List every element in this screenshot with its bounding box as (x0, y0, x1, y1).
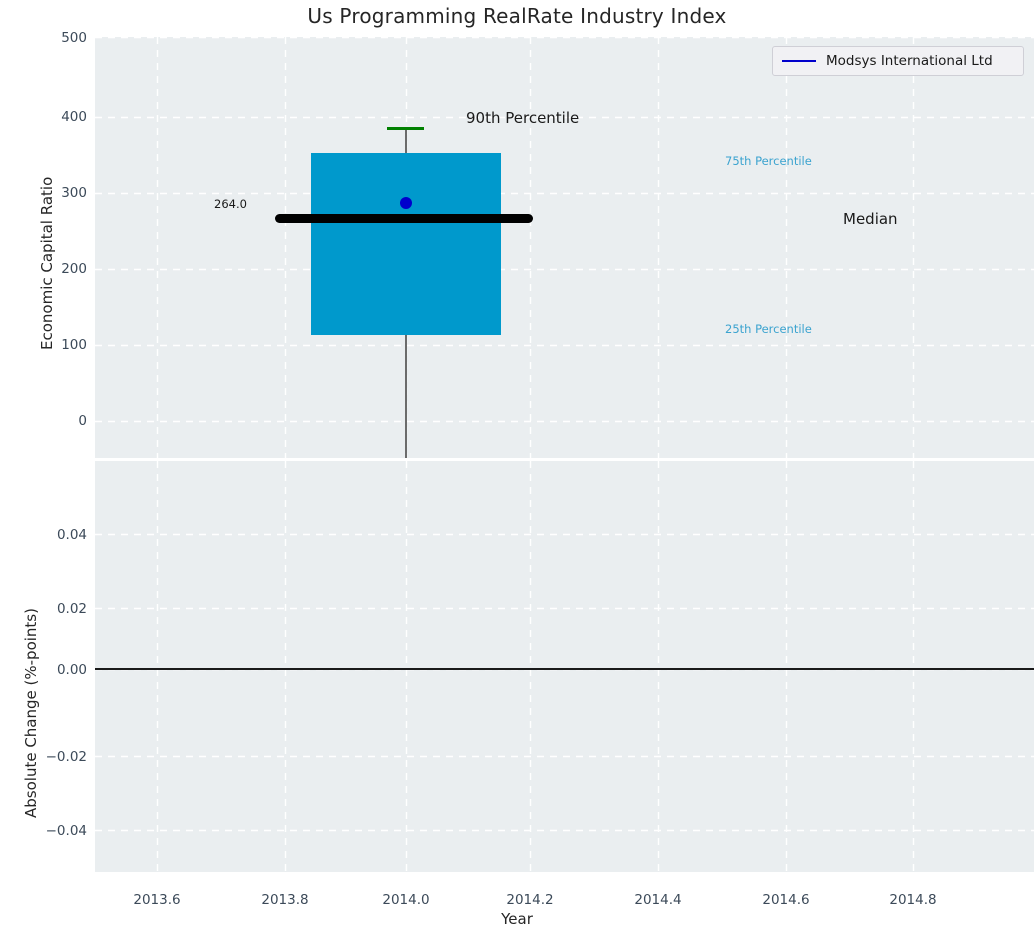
y-tick-label: 0.02 (7, 601, 87, 617)
x-axis-label: Year (0, 910, 1034, 928)
y-tick-label: −0.02 (7, 749, 87, 765)
bottom-panel-gridlines (95, 461, 1034, 872)
top-panel-plot-area: 90th Percentile 75th Percentile Median 2… (95, 37, 1034, 458)
y-tick-label: 400 (7, 109, 87, 125)
annotation-75th-percentile: 75th Percentile (725, 154, 812, 168)
bottom-panel-plot-area (95, 461, 1034, 872)
x-tick-label: 2014.0 (356, 892, 456, 908)
chart-figure: Us Programming RealRate Industry Index (0, 0, 1034, 942)
bottom-panel-y-axis-label: Absolute Change (%-points) (22, 608, 40, 818)
interquartile-bar (311, 153, 501, 335)
company-data-point (400, 197, 412, 209)
top-panel-y-axis-label: Economic Capital Ratio (38, 177, 56, 350)
y-tick-label: 0.04 (7, 527, 87, 543)
annotation-median-value: 264.0 (214, 197, 247, 211)
x-tick-label: 2013.8 (235, 892, 335, 908)
legend-line-swatch (782, 60, 816, 63)
legend-entry-label: Modsys International Ltd (826, 53, 993, 69)
annotation-median: Median (843, 210, 898, 228)
annotation-90th-percentile: 90th Percentile (466, 109, 579, 127)
y-tick-label: −0.04 (7, 823, 87, 839)
y-tick-label: 500 (7, 30, 87, 46)
y-tick-label: 0 (7, 413, 87, 429)
x-tick-label: 2014.2 (480, 892, 580, 908)
median-line (275, 214, 533, 223)
x-tick-label: 2014.4 (608, 892, 708, 908)
x-tick-label: 2013.6 (107, 892, 207, 908)
chart-title: Us Programming RealRate Industry Index (0, 4, 1034, 28)
zero-reference-line (95, 668, 1034, 670)
annotation-25th-percentile: 25th Percentile (725, 322, 812, 336)
x-tick-label: 2014.6 (736, 892, 836, 908)
chart-legend[interactable]: Modsys International Ltd (772, 46, 1024, 76)
y-tick-label: 0.00 (7, 662, 87, 678)
top-panel-gridlines (95, 37, 1034, 458)
p90-cap (387, 127, 424, 130)
x-tick-label: 2014.8 (863, 892, 963, 908)
